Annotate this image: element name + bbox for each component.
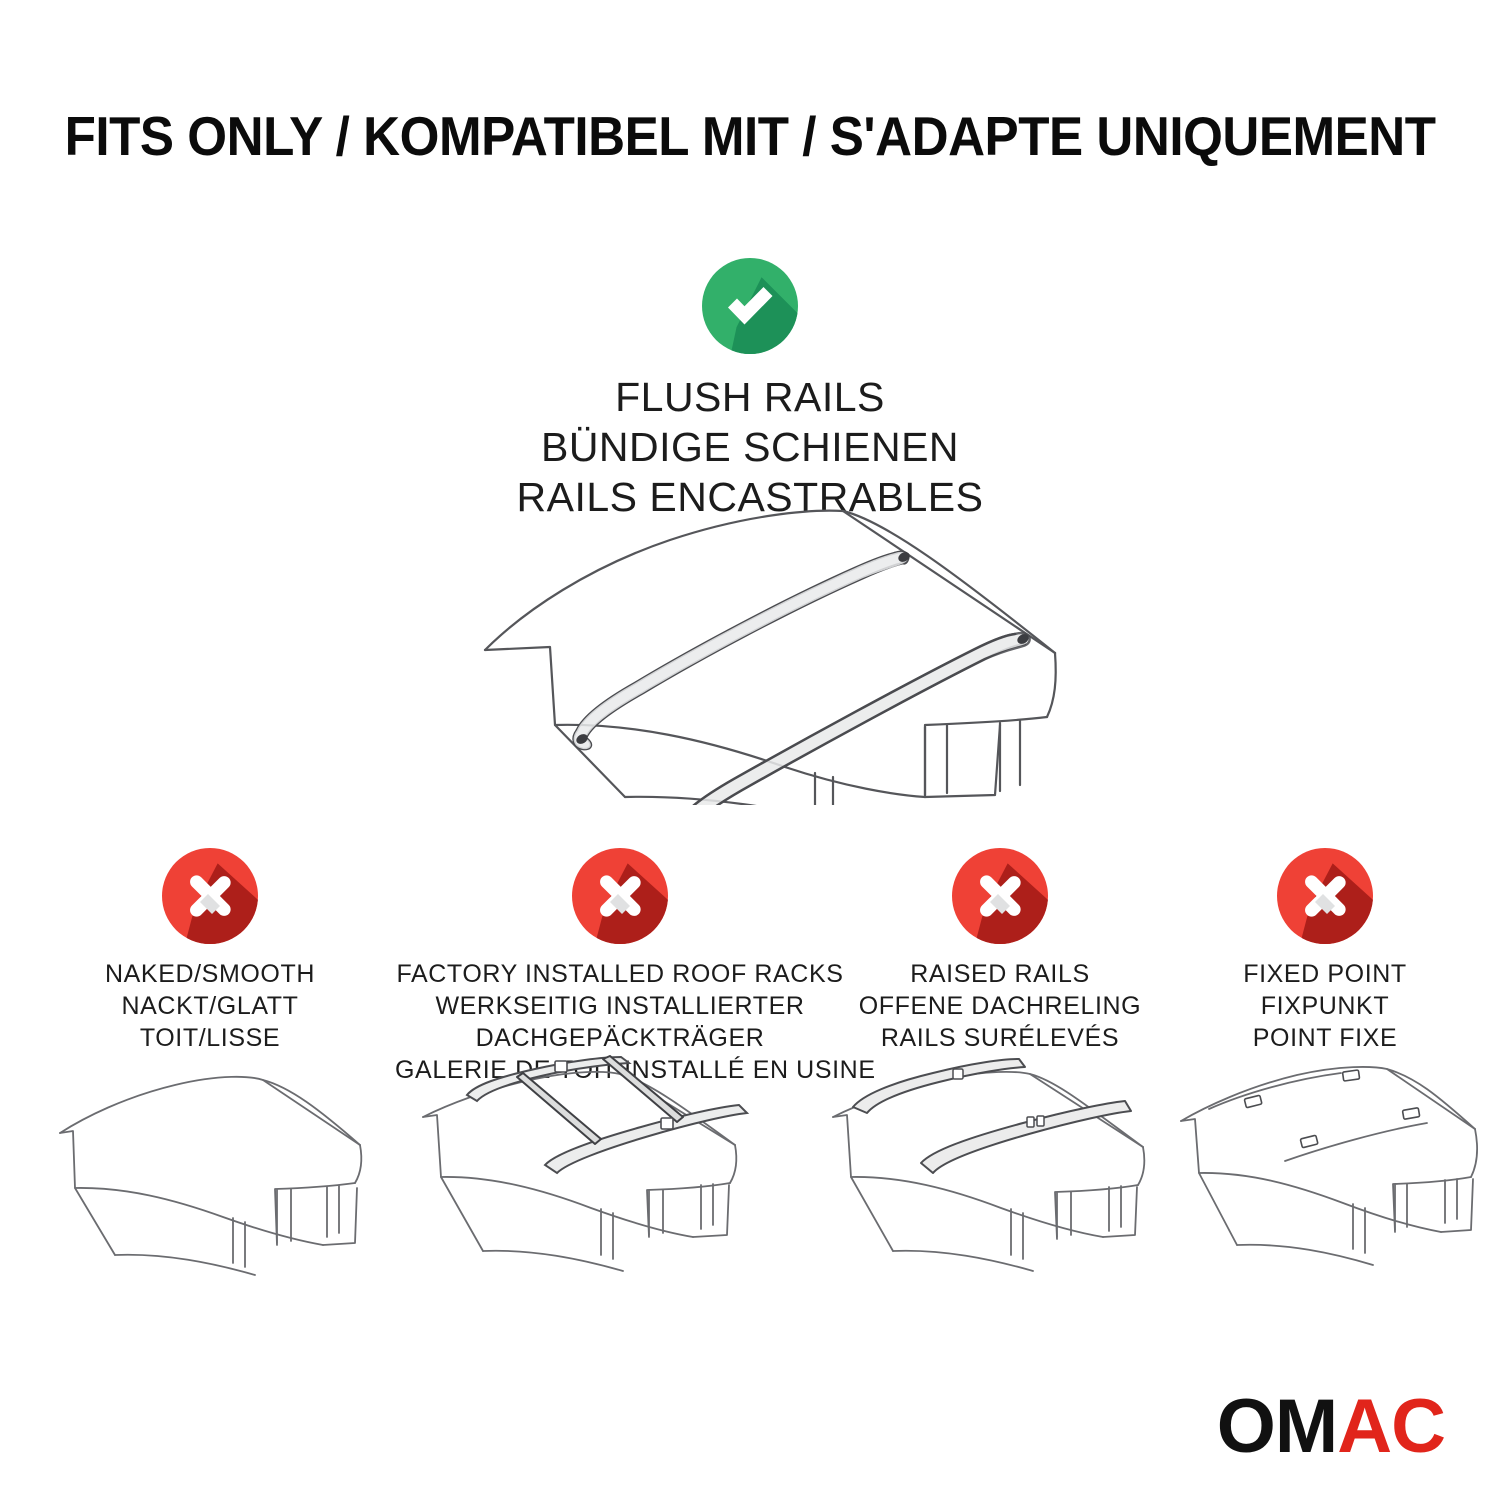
incompatible-item-factory-roof-racks: FACTORY INSTALLED ROOF RACKS WERKSEITIG …	[395, 848, 845, 1086]
compatible-label-de: BÜNDIGE SCHIENEN	[250, 422, 1250, 472]
car-roof-naked-smooth-illustration	[55, 1055, 395, 1305]
x-circle-icon	[162, 848, 258, 944]
label-en: FIXED POINT	[1175, 958, 1475, 990]
label-en: RAISED RAILS	[830, 958, 1170, 990]
label-fr: POINT FIXE	[1175, 1022, 1475, 1054]
x-mark-glyph	[952, 848, 1048, 944]
incompatible-item-raised-rails: RAISED RAILS OFFENE DACHRELING RAILS SUR…	[830, 848, 1170, 1054]
label-en: NAKED/SMOOTH	[40, 958, 380, 990]
page-title-text: FITS ONLY / KOMPATIBEL MIT / S'ADAPTE UN…	[65, 104, 1436, 168]
incompatible-illustrations	[0, 1055, 1500, 1310]
incompatible-item-naked-smooth: NAKED/SMOOTH NACKT/GLATT TOIT/LISSE	[40, 848, 380, 1054]
compatible-section: FLUSH RAILS BÜNDIGE SCHIENEN RAILS ENCAS…	[250, 258, 1250, 522]
car-roof-raised-rails-drawing	[825, 1055, 1195, 1305]
car-roof-factory-roof-racks-illustration	[415, 1055, 795, 1305]
car-roof-naked-smooth-drawing	[55, 1055, 395, 1305]
incompatible-labels: RAISED RAILS OFFENE DACHRELING RAILS SUR…	[830, 958, 1170, 1054]
car-roof-flush-rails-illustration	[455, 495, 1065, 805]
check-circle-icon	[702, 258, 798, 354]
check-mark-glyph	[702, 258, 798, 354]
flush-rail-near	[672, 633, 1029, 805]
label-de: OFFENE DACHRELING	[830, 990, 1170, 1022]
logo-text-dark: OM	[1217, 1384, 1337, 1469]
compatible-label-en: FLUSH RAILS	[250, 372, 1250, 422]
x-mark-glyph	[572, 848, 668, 944]
omac-logo: OMAC	[1217, 1427, 1445, 1452]
label-fr: TOIT/LISSE	[40, 1022, 380, 1054]
label-de: NACKT/GLATT	[40, 990, 380, 1022]
page-title: FITS ONLY / KOMPATIBEL MIT / S'ADAPTE UN…	[0, 104, 1500, 168]
car-roof-fixed-point-illustration	[1175, 1055, 1500, 1305]
label-de: FIXPUNKT	[1175, 990, 1475, 1022]
car-roof-fixed-point-drawing	[1175, 1055, 1500, 1305]
label-en: FACTORY INSTALLED ROOF RACKS	[395, 958, 845, 990]
x-mark-glyph	[162, 848, 258, 944]
x-circle-icon	[952, 848, 1048, 944]
incompatible-labels: FIXED POINT FIXPUNKT POINT FIXE	[1175, 958, 1475, 1054]
x-circle-icon	[572, 848, 668, 944]
label-de-1: WERKSEITIG INSTALLIERTER	[395, 990, 845, 1022]
x-circle-icon	[1277, 848, 1373, 944]
fitment-infographic: FITS ONLY / KOMPATIBEL MIT / S'ADAPTE UN…	[0, 0, 1500, 1500]
incompatible-labels: NAKED/SMOOTH NACKT/GLATT TOIT/LISSE	[40, 958, 380, 1054]
car-roof-flush-rails-drawing	[455, 495, 1065, 805]
label-de-2: DACHGEPÄCKTRÄGER	[395, 1022, 845, 1054]
incompatible-item-fixed-point: FIXED POINT FIXPUNKT POINT FIXE	[1175, 848, 1475, 1054]
car-roof-raised-rails-illustration	[825, 1055, 1195, 1305]
x-mark-glyph	[1277, 848, 1373, 944]
label-fr: RAILS SURÉLEVÉS	[830, 1022, 1170, 1054]
car-roof-factory-roof-racks-drawing	[415, 1055, 795, 1305]
logo-text-red: AC	[1337, 1384, 1445, 1469]
